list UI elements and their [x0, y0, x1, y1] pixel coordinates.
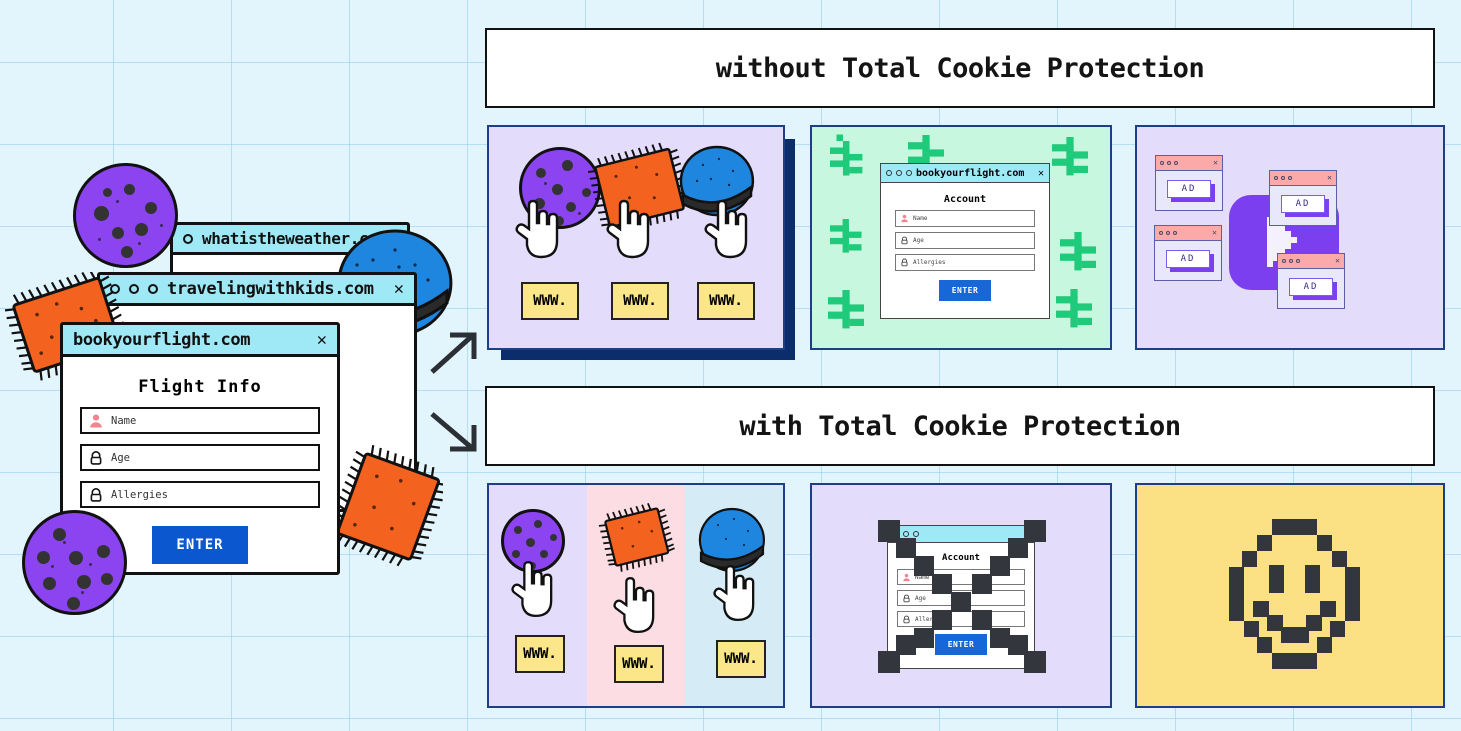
- shared-cookies-panel: WWW. WWW. WWW.: [487, 125, 785, 350]
- ad-label: AD: [1166, 250, 1211, 268]
- input-label: Name: [913, 215, 927, 222]
- enter-button[interactable]: ENTER: [152, 526, 247, 564]
- window-dot-icon: [148, 284, 158, 294]
- input-name[interactable]: Name: [80, 407, 320, 434]
- window-title: bookyourflight.com: [73, 330, 308, 350]
- pixel-smiley-face-icon: [1207, 505, 1377, 685]
- form-heading: Flight Info: [63, 377, 337, 397]
- isolated-cookies-panel: WWW. WWW. WWW.: [487, 483, 785, 708]
- close-icon[interactable]: ✕: [1213, 159, 1218, 167]
- cookie-purple-bottom: [22, 510, 127, 615]
- ad-window[interactable]: ✕ AD: [1155, 155, 1223, 211]
- hand-cursor-icon: [509, 559, 555, 621]
- input-name[interactable]: Name: [895, 210, 1035, 227]
- hand-cursor-icon: [611, 575, 657, 637]
- ad-window[interactable]: ✕ AD: [1277, 253, 1345, 309]
- ad-window[interactable]: ✕ AD: [1269, 170, 1337, 226]
- ad-window[interactable]: ✕ AD: [1154, 225, 1222, 281]
- happy-outcome-panel: [1135, 483, 1445, 708]
- input-label: Age: [913, 237, 924, 244]
- input-label: Name: [111, 415, 136, 427]
- window-title: travelingwithkids.com: [167, 279, 385, 299]
- ad-label: AD: [1281, 195, 1326, 213]
- window-dots-icon: [1159, 231, 1177, 235]
- lock-icon: [900, 236, 909, 245]
- hand-cursor-icon: [604, 199, 652, 261]
- lock-icon: [88, 487, 104, 503]
- window-title: bookyourflight.com: [916, 168, 1034, 179]
- section-header-with: with Total Cookie Protection: [485, 386, 1435, 466]
- person-icon: [900, 214, 909, 223]
- hand-cursor-icon: [702, 199, 750, 261]
- window-dots-icon: [1160, 161, 1178, 165]
- input-age[interactable]: Age: [895, 232, 1035, 249]
- www-box[interactable]: WWW.: [716, 640, 766, 678]
- pixel-cross-blocked-icon: [872, 518, 1052, 678]
- titlebar: bookyourflight.com ✕: [881, 164, 1049, 183]
- www-box[interactable]: WWW.: [611, 282, 669, 320]
- www-box[interactable]: WWW.: [521, 282, 579, 320]
- targeted-ads-panel: ✕ AD ✕ AD ✕ AD ✕ AD: [1135, 125, 1445, 350]
- window-dot-icon: [183, 234, 193, 244]
- titlebar: bookyourflight.com ✕: [63, 325, 337, 357]
- close-icon[interactable]: ✕: [1212, 229, 1217, 237]
- close-icon[interactable]: ✕: [1327, 174, 1332, 182]
- data-harvest-panel: bookyourflight.com ✕ Account Name Age Al…: [810, 125, 1112, 350]
- section-title: with Total Cookie Protection: [739, 411, 1180, 442]
- ad-label: AD: [1167, 180, 1212, 198]
- lock-icon: [88, 450, 104, 466]
- titlebar: ✕: [1278, 254, 1344, 269]
- input-label: Allergies: [111, 489, 168, 501]
- ad-label: AD: [1289, 278, 1334, 296]
- www-box[interactable]: WWW.: [697, 282, 755, 320]
- cookie-biscuit-icon: [597, 501, 677, 575]
- www-box[interactable]: WWW.: [515, 635, 565, 673]
- input-label: Allergies: [913, 259, 946, 266]
- close-icon[interactable]: ✕: [394, 279, 404, 299]
- lock-icon: [900, 258, 909, 267]
- window-dot-icon: [886, 170, 892, 176]
- enter-button[interactable]: ENTER: [939, 280, 992, 301]
- hand-cursor-icon: [711, 563, 757, 625]
- titlebar: ✕: [1270, 171, 1336, 186]
- titlebar: ✕: [1155, 226, 1221, 241]
- cookie-collage: whatistheweather.com: [0, 0, 470, 731]
- form-heading: Account: [881, 194, 1049, 205]
- hand-cursor-icon: [513, 199, 561, 261]
- section-header-without: without Total Cookie Protection: [485, 28, 1435, 108]
- person-icon: [88, 413, 104, 429]
- comparison-area: without Total Cookie Protection: [485, 0, 1461, 731]
- window-dots-icon: [1282, 259, 1300, 263]
- input-label: Age: [111, 452, 130, 464]
- input-age[interactable]: Age: [80, 444, 320, 471]
- blocked-form-panel: Account Name Age Allergies ENTER: [810, 483, 1112, 708]
- titlebar: ✕: [1156, 156, 1222, 171]
- input-allergies[interactable]: Allergies: [895, 254, 1035, 271]
- close-icon[interactable]: ✕: [1038, 168, 1044, 179]
- close-icon[interactable]: ✕: [1335, 257, 1340, 265]
- account-window[interactable]: bookyourflight.com ✕ Account Name Age Al…: [880, 163, 1050, 319]
- window-dot-icon: [906, 170, 912, 176]
- window-dot-icon: [896, 170, 902, 176]
- cookie-orange-biscuit-right: [333, 440, 443, 575]
- section-title: without Total Cookie Protection: [716, 53, 1204, 84]
- input-allergies[interactable]: Allergies: [80, 481, 320, 508]
- titlebar: travelingwithkids.com ✕: [100, 275, 414, 306]
- www-box[interactable]: WWW.: [614, 645, 664, 683]
- window-dot-icon: [129, 284, 139, 294]
- window-dots-icon: [1274, 176, 1292, 180]
- close-icon[interactable]: ✕: [317, 330, 327, 350]
- cookie-purple-top: [73, 163, 178, 268]
